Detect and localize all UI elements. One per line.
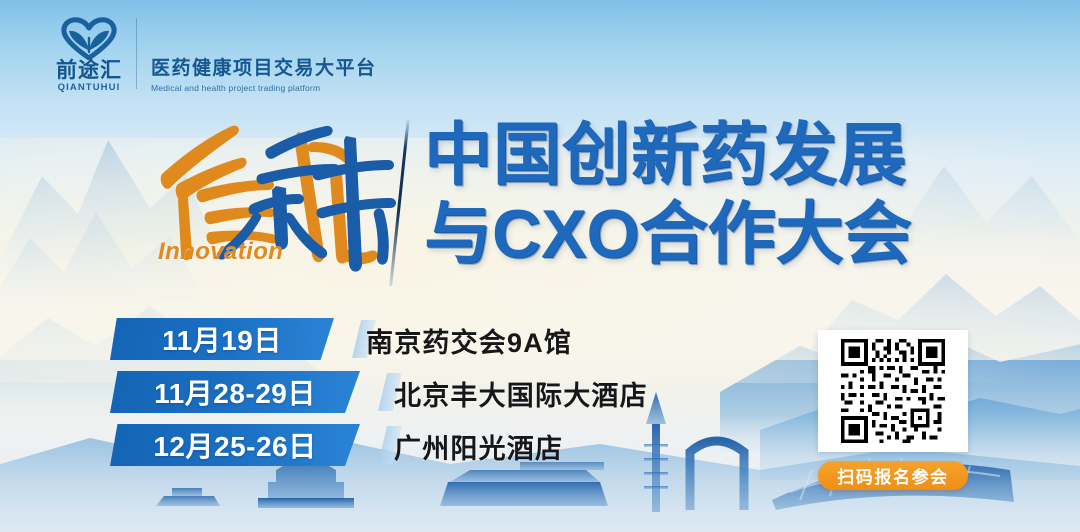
brand-logo[interactable]: 前途汇 QIANTUHUI 医药健康项目交易大平台 Medical and he… bbox=[56, 16, 377, 93]
schedule-row[interactable]: 11月19日 南京药交会9A馆 bbox=[0, 318, 660, 370]
brand-name-cn: 前途汇 bbox=[56, 60, 122, 81]
brand-name-en: QIANTUHUI bbox=[58, 83, 121, 93]
title-line-2: 与CXO合作大会 bbox=[424, 195, 1024, 274]
schedule-date: 11月19日 bbox=[162, 319, 282, 359]
qr-card bbox=[818, 330, 968, 452]
schedule-list: 11月19日 南京药交会9A馆 11月28-29日 北京丰大国际大酒店 12月2… bbox=[0, 318, 660, 477]
schedule-venue: 广州阳光酒店 bbox=[394, 427, 563, 466]
conference-poster: 前途汇 QIANTUHUI 医药健康项目交易大平台 Medical and he… bbox=[0, 0, 1080, 532]
page-title: 中国创新药发展 与CXO合作大会 bbox=[424, 116, 1024, 274]
schedule-venue: 南京药交会9A馆 bbox=[366, 321, 572, 360]
schedule-date-badge: 11月28-29日 bbox=[110, 371, 360, 413]
qr-code-icon bbox=[823, 335, 963, 447]
brand-tagline-cn: 医药健康项目交易大平台 bbox=[151, 59, 377, 80]
logo-divider bbox=[136, 18, 137, 89]
calligraphy-subtitle-en: Innovation bbox=[158, 238, 283, 266]
schedule-date: 12月25-26日 bbox=[153, 425, 316, 465]
schedule-date-badge: 12月25-26日 bbox=[110, 424, 360, 466]
schedule-row[interactable]: 12月25-26日 广州阳光酒店 bbox=[0, 424, 660, 476]
qr-registration-block[interactable]: 扫码报名参会 bbox=[818, 330, 968, 490]
schedule-venue: 北京丰大国际大酒店 bbox=[394, 374, 648, 413]
schedule-row[interactable]: 11月28-29日 北京丰大国际大酒店 bbox=[0, 371, 660, 423]
calligraphy-innovation: Innovation bbox=[148, 112, 398, 284]
heart-leaf-icon bbox=[58, 16, 120, 60]
qr-caption-button[interactable]: 扫码报名参会 bbox=[818, 461, 968, 490]
schedule-date-badge: 11月19日 bbox=[110, 318, 334, 360]
schedule-date: 11月28-29日 bbox=[154, 372, 316, 412]
qr-caption-text: 扫码报名参会 bbox=[837, 463, 949, 488]
title-line-1: 中国创新药发展 bbox=[424, 116, 1024, 195]
brand-tagline-en: Medical and health project trading platf… bbox=[151, 83, 377, 93]
